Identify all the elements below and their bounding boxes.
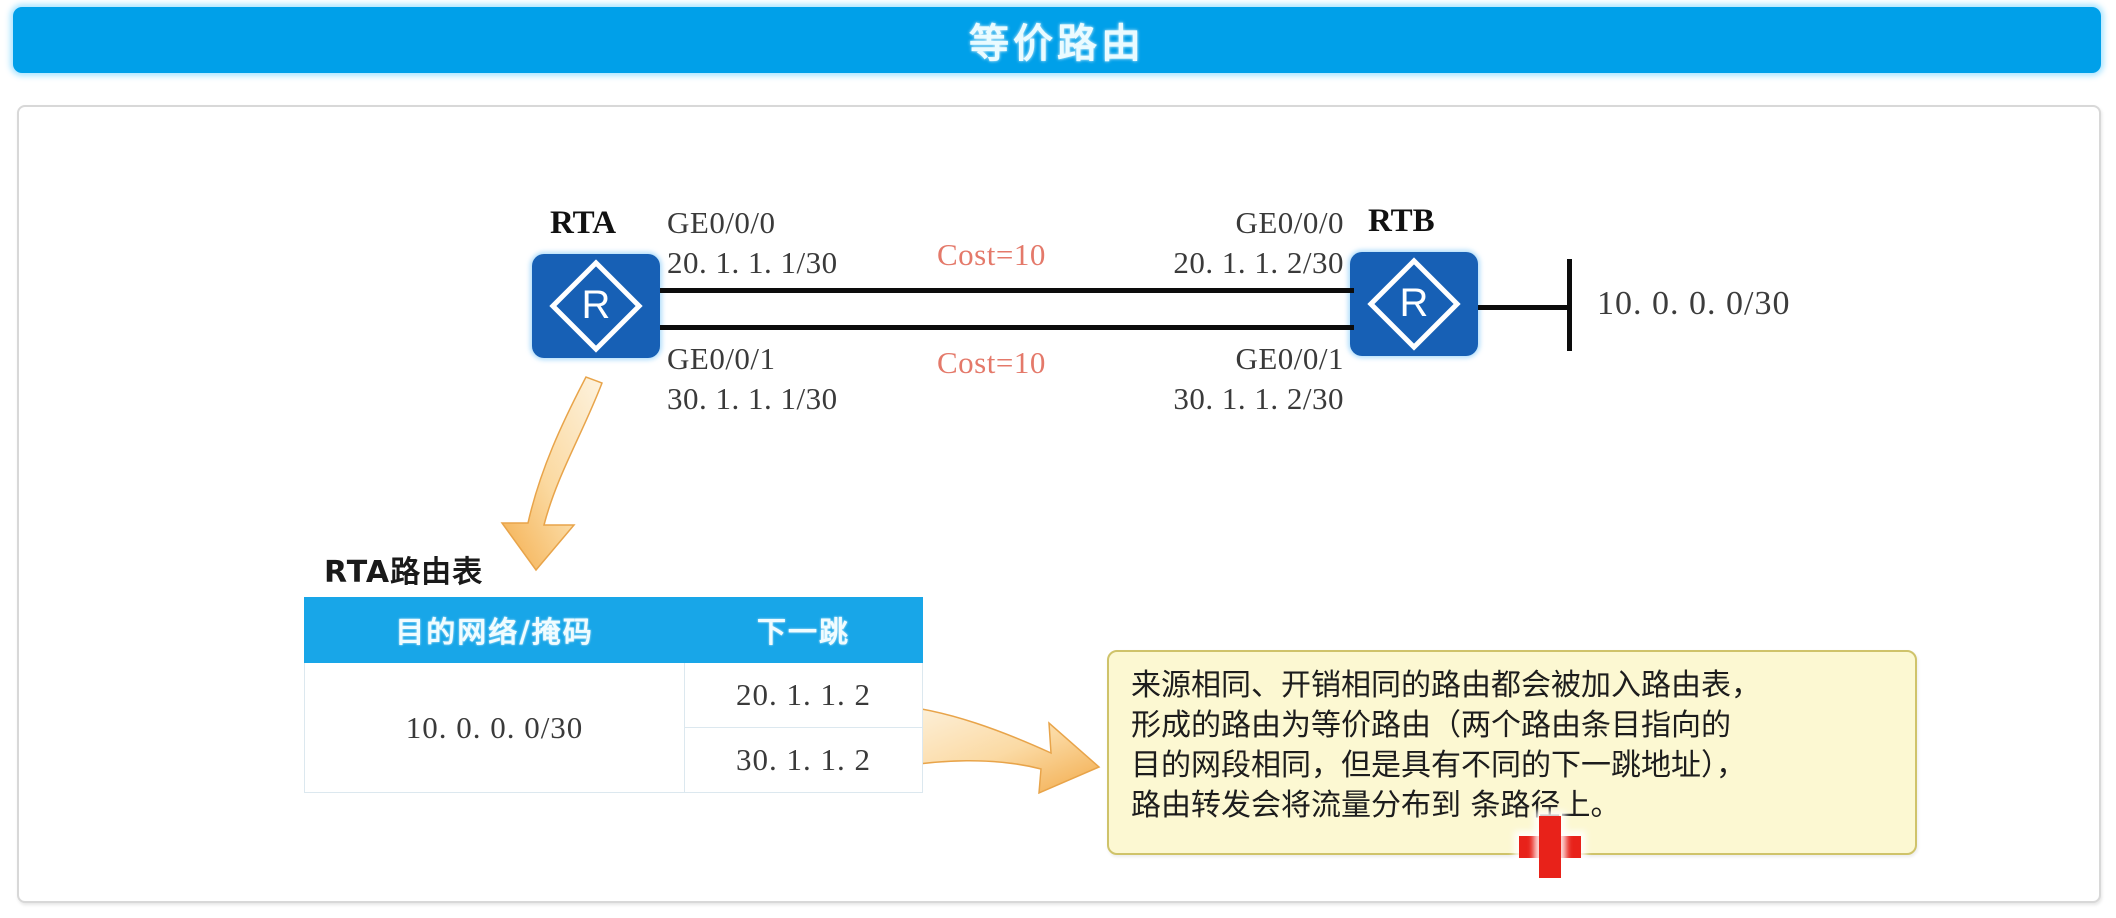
router-icon-rta: R [532, 254, 660, 358]
content-panel: RTA R RTB R 10. 0. 0. 0/30 GE0/0/0 20. 1… [17, 105, 2101, 903]
router-icon-rtb: R [1350, 252, 1478, 356]
curved-arrow-down-icon [462, 365, 662, 575]
router-glyph: R [532, 254, 660, 358]
network-diagram: RTA R RTB R 10. 0. 0. 0/30 GE0/0/0 20. 1… [19, 107, 2103, 905]
table-row: 10. 0. 0. 0/30 20. 1. 1. 2 [305, 663, 923, 728]
explanation-note-box: 来源相同、开销相同的路由都会被加入路由表， 形成的路由为等价路由（两个路由条目指… [1107, 650, 1917, 855]
cell-next-hop: 30. 1. 1. 2 [685, 728, 923, 793]
column-header-next-hop: 下一跳 [685, 598, 923, 663]
interface-label-rta-ge0-0-0: GE0/0/0 20. 1. 1. 1/30 [667, 203, 838, 282]
lan-network-label: 10. 0. 0. 0/30 [1597, 285, 1790, 323]
router-label-rta: RTA [550, 205, 616, 242]
cell-next-hop: 20. 1. 1. 2 [685, 663, 923, 728]
router-glyph: R [1350, 252, 1478, 356]
table-header-row: 目的网络/掩码 下一跳 [305, 598, 923, 663]
interface-label-rtb-ge0-0-1: GE0/0/1 30. 1. 1. 2/30 [1081, 339, 1344, 418]
page-header-bar: 等价路由 [13, 7, 2101, 73]
cost-label-bottom: Cost=10 [937, 345, 1046, 381]
red-cross-cursor-icon [1519, 816, 1581, 878]
column-header-destination: 目的网络/掩码 [305, 598, 685, 663]
link-line-bottom [660, 325, 1354, 330]
lan-segment-bar [1567, 259, 1572, 351]
router-label-rtb: RTB [1368, 203, 1435, 240]
explanation-note-text: 来源相同、开销相同的路由都会被加入路由表， 形成的路由为等价路由（两个路由条目指… [1131, 666, 1897, 826]
routing-table: 目的网络/掩码 下一跳 10. 0. 0. 0/30 20. 1. 1. 2 3… [304, 597, 923, 793]
cell-destination: 10. 0. 0. 0/30 [305, 663, 685, 793]
page-title: 等价路由 [969, 11, 1145, 69]
link-line-top [660, 288, 1354, 293]
cross-bar-vertical [1539, 816, 1561, 878]
interface-label-rta-ge0-0-1: GE0/0/1 30. 1. 1. 1/30 [667, 339, 838, 418]
lan-link-line [1478, 305, 1571, 310]
routing-table-title: RTA路由表 [324, 547, 483, 591]
cost-label-top: Cost=10 [937, 237, 1046, 273]
interface-label-rtb-ge0-0-0: GE0/0/0 20. 1. 1. 2/30 [1081, 203, 1344, 282]
